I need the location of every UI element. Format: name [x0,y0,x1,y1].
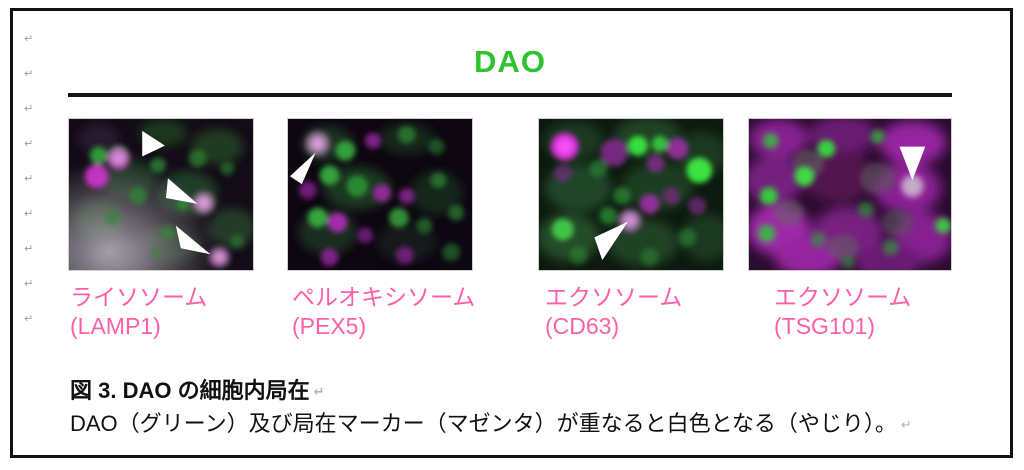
caption-line-1: 図 3. DAO の細胞内局在↵ [70,375,970,408]
lysosome-panel [68,118,254,271]
paragraph-return-mark: ↵ [310,384,325,399]
marker-name: エクソソーム [545,284,682,310]
paragraph-return-mark: ↵ [24,69,33,80]
peroxisome-panel [287,118,473,271]
marker-name: ペルオキシソーム [292,284,475,310]
caption-line-2-text: DAO（グリーン）及び局在マーカー（マゼンタ）が重なると白色となる（やじり）。 [70,411,897,436]
marker-gene: (TSG101) [774,312,911,341]
paragraph-return-mark: ↵ [24,34,33,45]
paragraph-return-mark: ↵ [24,174,33,185]
exosome-cd63-panel [538,118,724,271]
marker-name: エクソソーム [774,284,911,310]
caption-line-2: DAO（グリーン）及び局在マーカー（マゼンタ）が重なると白色となる（やじり）。↵ [70,408,970,441]
paragraph-return-mark: ↵ [24,209,33,220]
marker-name: ライソソーム [70,284,207,310]
figure-title: DAO [68,44,952,80]
paragraph-return-mark: ↵ [24,279,33,290]
paragraph-return-mark: ↵ [24,314,33,325]
lysosome-micrograph [69,119,253,270]
paragraph-return-mark: ↵ [897,417,912,432]
title-divider [68,93,952,97]
exosome-tsg101-panel [748,118,952,271]
marker-gene: (CD63) [545,312,682,341]
marker-label-cd63: エクソソーム (CD63) [545,283,682,341]
marker-gene: (PEX5) [292,312,475,341]
exosome-cd63-micrograph [539,119,723,270]
paragraph-return-mark: ↵ [24,104,33,115]
figure-caption: 図 3. DAO の細胞内局在↵ DAO（グリーン）及び局在マーカー（マゼンタ）… [70,375,970,441]
marker-label-pex5: ペルオキシソーム (PEX5) [292,283,475,341]
marker-gene: (LAMP1) [70,312,207,341]
peroxisome-micrograph [288,119,472,270]
exosome-tsg101-micrograph [749,119,951,270]
paragraph-return-mark: ↵ [24,244,33,255]
marker-label-lamp1: ライソソーム (LAMP1) [70,283,207,341]
document-page: ↵ ↵ ↵ ↵ ↵ ↵ ↵ ↵ ↵ DAO [0,0,1024,470]
marker-label-tsg101: エクソソーム (TSG101) [774,283,911,341]
caption-line-1-text: 図 3. DAO の細胞内局在 [70,378,310,403]
micrograph-panel-row [68,118,954,271]
paragraph-return-mark: ↵ [24,139,33,150]
